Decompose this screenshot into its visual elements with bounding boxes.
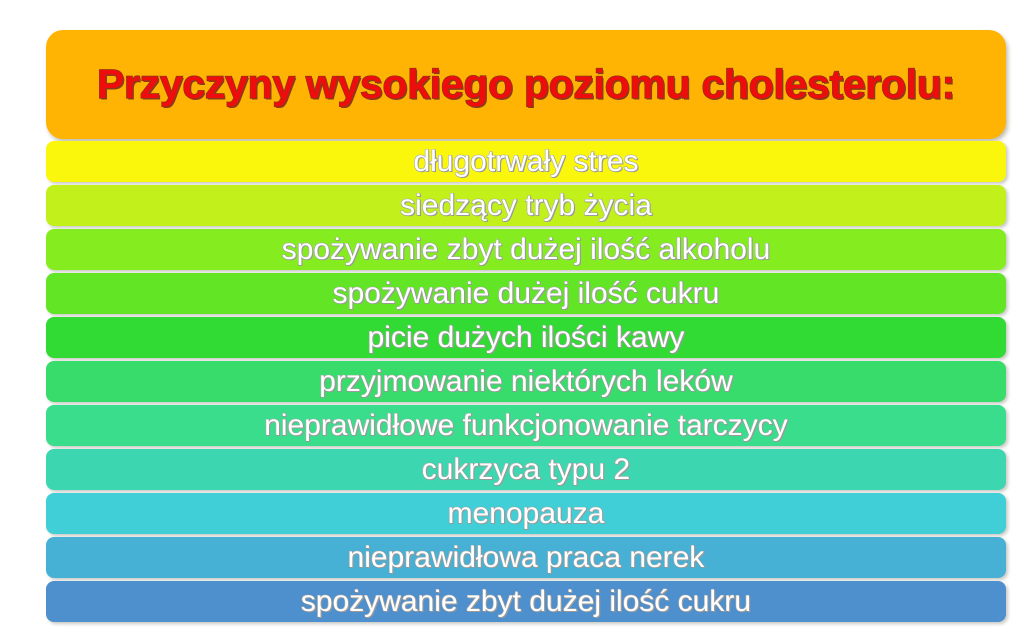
list-item: menopauza [46, 493, 1006, 534]
cholesterol-causes-list: Przyczyny wysokiego poziomu cholesterolu… [46, 30, 1006, 622]
list-item: cukrzyca typu 2 [46, 449, 1006, 490]
list-item-label: spożywanie zbyt dużej ilość cukru [301, 587, 751, 617]
list-item-label: menopauza [448, 499, 605, 529]
list-item: nieprawidłowe funkcjonowanie tarczycy [46, 405, 1006, 446]
list-item-label: siedzący tryb życia [400, 191, 652, 221]
list-item: spożywanie zbyt dużej ilość cukru [46, 581, 1006, 622]
list-item-label: nieprawidłowe funkcjonowanie tarczycy [264, 411, 788, 441]
list-item-label: długotrwały stres [413, 147, 638, 177]
header-banner: Przyczyny wysokiego poziomu cholesterolu… [46, 30, 1006, 139]
list-item-label: nieprawidłowa praca nerek [348, 543, 705, 573]
list-item: siedzący tryb życia [46, 185, 1006, 226]
list-item: picie dużych ilości kawy [46, 317, 1006, 358]
list-item: spożywanie dużej ilość cukru [46, 273, 1006, 314]
page-title: Przyczyny wysokiego poziomu cholesterolu… [97, 62, 955, 108]
infographic-slide: Przyczyny wysokiego poziomu cholesterolu… [0, 0, 1024, 632]
list-item: spożywanie zbyt dużej ilość alkoholu [46, 229, 1006, 270]
list-item-label: spożywanie dużej ilość cukru [333, 279, 720, 309]
list-item-label: przyjmowanie niektórych leków [319, 367, 733, 397]
list-item-label: cukrzyca typu 2 [422, 455, 630, 485]
list-item: przyjmowanie niektórych leków [46, 361, 1006, 402]
list-item-label: picie dużych ilości kawy [368, 323, 685, 353]
list-item-label: spożywanie zbyt dużej ilość alkoholu [282, 235, 771, 265]
list-item: nieprawidłowa praca nerek [46, 537, 1006, 578]
list-item: długotrwały stres [46, 141, 1006, 182]
